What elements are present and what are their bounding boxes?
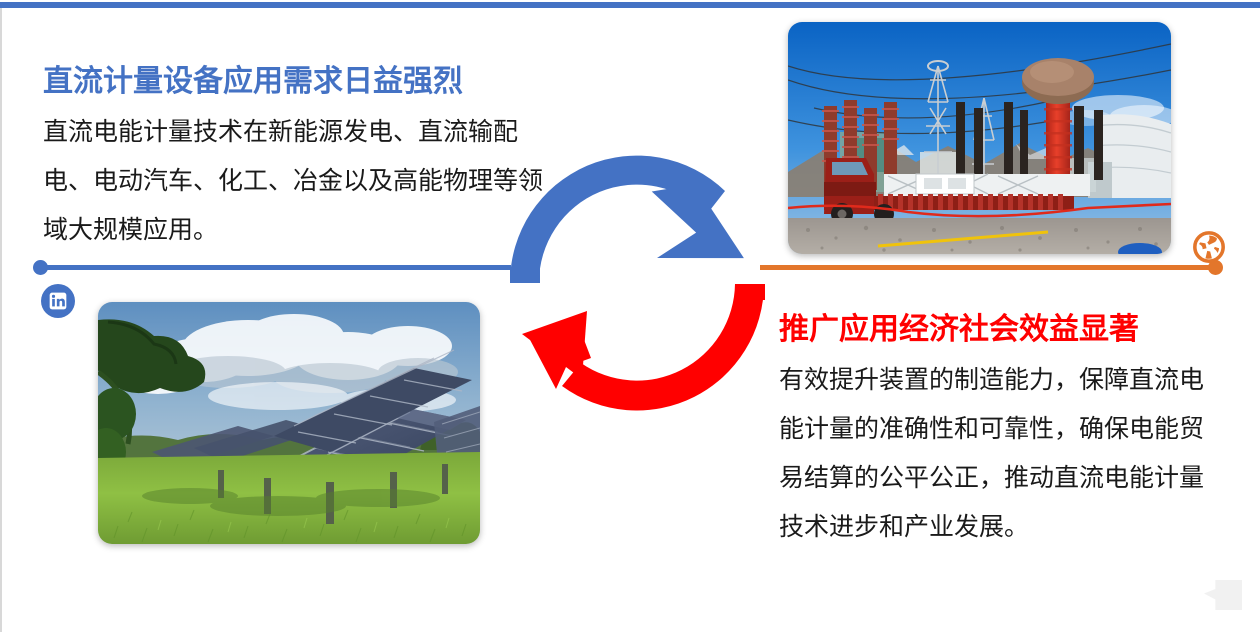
orange-connector-line (760, 265, 1216, 270)
left-heading: 直流计量设备应用需求日益强烈 (43, 62, 548, 102)
blue-connector-dot (33, 260, 48, 275)
right-body-text: 有效提升装置的制造能力，保障直流电能计量的准确性和可靠性，确保电能贸易结算的公平… (779, 356, 1224, 552)
right-heading: 推广应用经济社会效益显著 (779, 310, 1224, 350)
hvdc-substation-test-photo (788, 22, 1171, 254)
cycle-arrows-graphic (492, 136, 782, 426)
blue-connector-line (44, 265, 511, 270)
top-accent-bar (0, 2, 1260, 8)
solar-panel-farm-photo (98, 302, 480, 544)
red-counterclockwise-arrow-icon (522, 284, 764, 411)
left-content-block: 直流计量设备应用需求日益强烈 直流电能计量技术在新能源发电、直流输配电、电动汽车… (43, 62, 548, 255)
globe-icon[interactable] (1192, 230, 1226, 264)
linkedin-icon[interactable] (41, 284, 75, 318)
left-edge-line (0, 8, 2, 632)
slide-canvas: 直流计量设备应用需求日益强烈 直流电能计量技术在新能源发电、直流输配电、电动汽车… (0, 0, 1260, 632)
blue-clockwise-arrow-icon (510, 156, 757, 283)
corner-watermark (1204, 580, 1242, 610)
left-body-text: 直流电能计量技术在新能源发电、直流输配电、电动汽车、化工、冶金以及高能物理等领域… (43, 108, 548, 255)
right-content-block: 推广应用经济社会效益显著 有效提升装置的制造能力，保障直流电能计量的准确性和可靠… (779, 310, 1224, 552)
